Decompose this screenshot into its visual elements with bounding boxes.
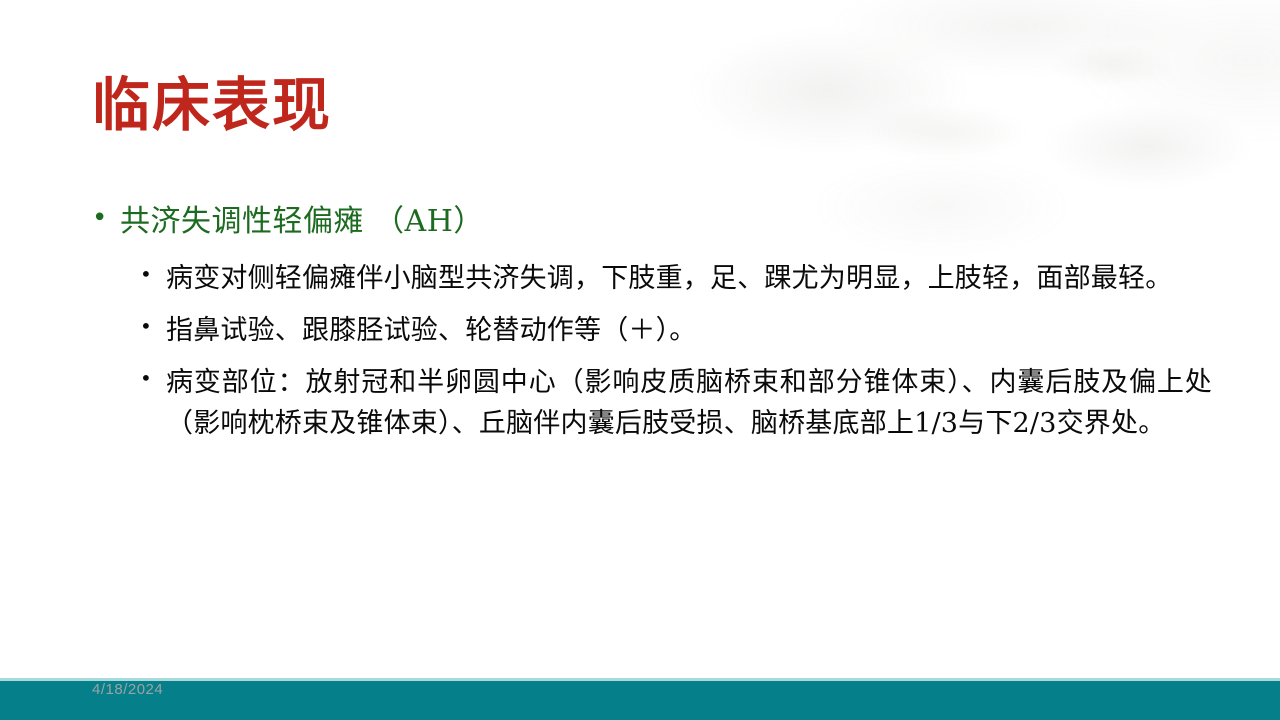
bullet-level1: • 共济失调性轻偏瘫 （AH） [92,200,1212,244]
list-item: • 病变对侧轻偏瘫伴小脑型共济失调，下肢重，足、踝尤为明显，上肢轻，面部最轻。 [140,258,1212,299]
bullet-dot-icon: • [140,258,166,290]
background-texture-secondary [860,0,1280,220]
list-item-label: 指鼻试验、跟膝胫试验、轮替动作等（＋）。 [166,310,1212,351]
bullet-dot-icon: • [140,310,166,342]
slide-body: • 共济失调性轻偏瘫 （AH） • 病变对侧轻偏瘫伴小脑型共济失调，下肢重，足、… [92,200,1212,455]
bullet-level1-label: 共济失调性轻偏瘫 （AH） [120,200,1212,244]
list-item-label: 病变部位：放射冠和半卵圆中心（影响皮质脑桥束和部分锥体束）、内囊后肢及偏上处（影… [166,362,1212,444]
footer-bar [0,681,1280,720]
bullet-level2-list: • 病变对侧轻偏瘫伴小脑型共济失调，下肢重，足、踝尤为明显，上肢轻，面部最轻。 … [140,258,1212,444]
list-item: • 指鼻试验、跟膝胫试验、轮替动作等（＋）。 [140,310,1212,351]
bullet-dot-icon: • [140,362,166,394]
bullet-dot-icon: • [92,200,120,238]
list-item: • 病变部位：放射冠和半卵圆中心（影响皮质脑桥束和部分锥体束）、内囊后肢及偏上处… [140,362,1212,444]
footer-date: 4/18/2024 [92,681,163,698]
list-item-label: 病变对侧轻偏瘫伴小脑型共济失调，下肢重，足、踝尤为明显，上肢轻，面部最轻。 [166,258,1212,299]
slide: 临床表现 • 共济失调性轻偏瘫 （AH） • 病变对侧轻偏瘫伴小脑型共济失调，下… [0,0,1280,720]
page-title: 临床表现 [92,74,332,138]
